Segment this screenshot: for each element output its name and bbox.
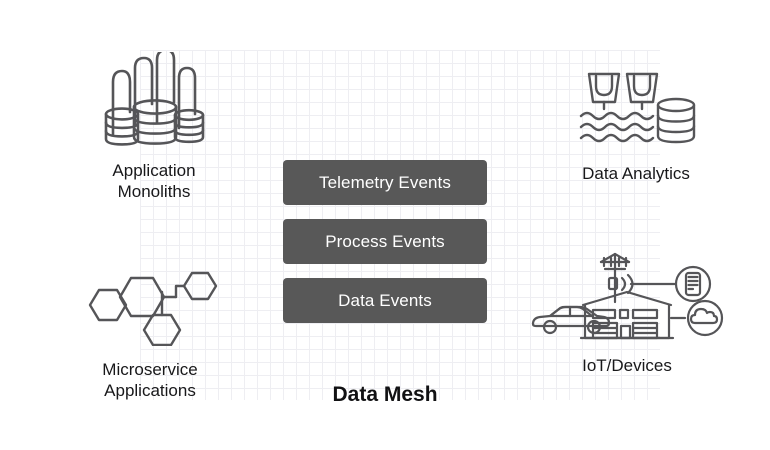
event-bar-process-events[interactable]: Process Events — [283, 219, 487, 264]
node-label-application-monoliths: Application Monoliths — [112, 160, 195, 203]
event-bar-stack: Telemetry Events Process Events Data Eve… — [283, 160, 487, 323]
node-label-data-analytics: Data Analytics — [582, 163, 690, 184]
event-bar-telemetry-events[interactable]: Telemetry Events — [283, 160, 487, 205]
event-bar-label: Data Events — [338, 291, 432, 311]
node-microservice-applications: Microservice Applications — [76, 268, 224, 402]
event-bar-data-events[interactable]: Data Events — [283, 278, 487, 323]
monolith-towers-databases-icon — [99, 52, 209, 152]
diagram-title: Data Mesh — [283, 383, 487, 407]
node-label-iot-devices: IoT/Devices — [582, 355, 672, 376]
event-bar-label: Telemetry Events — [319, 173, 451, 193]
node-iot-devices: IoT/Devices — [524, 252, 730, 376]
car-factory-antenna-phone-cloud-icon — [527, 252, 727, 347]
node-data-analytics: Data Analytics — [556, 70, 716, 184]
node-label-microservice-applications: Microservice Applications — [102, 359, 197, 402]
connected-hexagons-icon — [80, 268, 220, 351]
event-bar-label: Process Events — [325, 232, 445, 252]
data-mesh-diagram: Application Monoliths — [0, 0, 770, 450]
funnels-waves-database-icon — [575, 70, 697, 155]
node-application-monoliths: Application Monoliths — [86, 52, 222, 203]
